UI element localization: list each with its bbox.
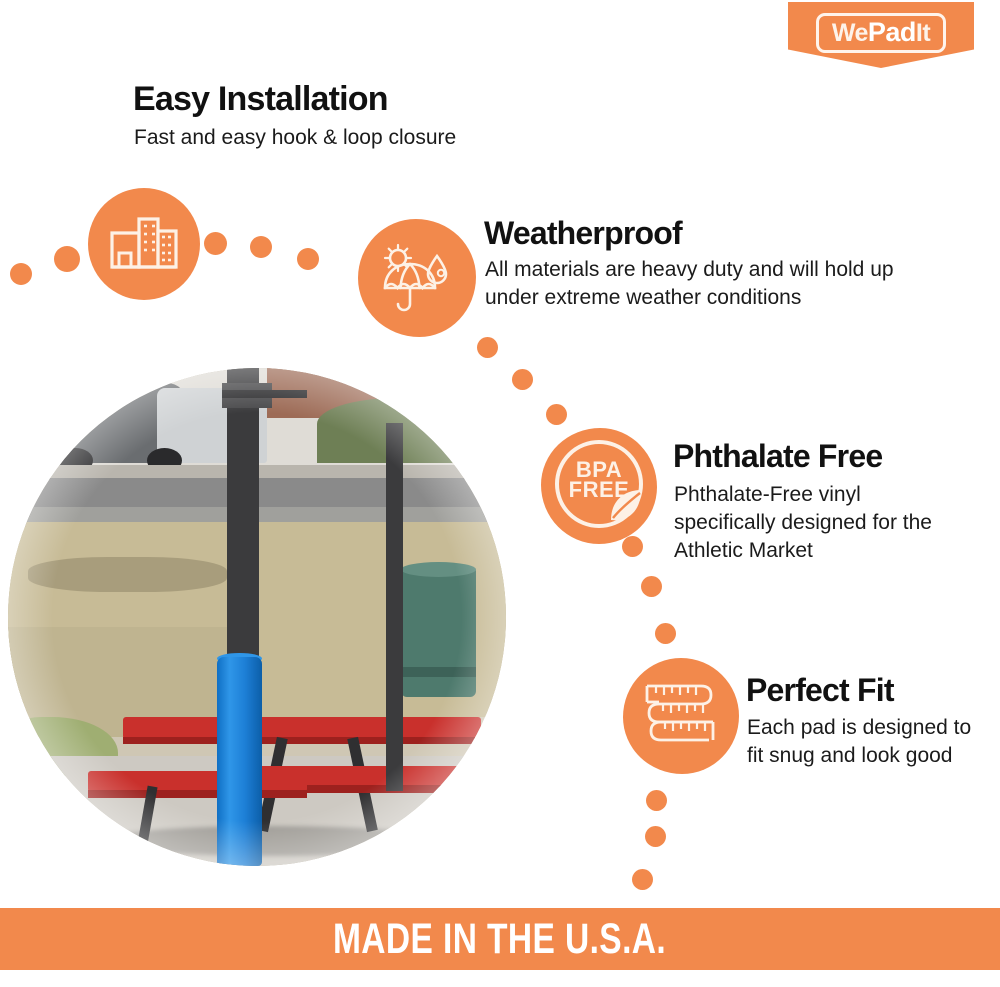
- logo-text-pad: Pad: [868, 19, 916, 46]
- trail-dot: [297, 248, 319, 270]
- product-photo: [8, 368, 506, 866]
- trail-dot: [645, 826, 666, 847]
- logo-text-we: We: [832, 21, 868, 46]
- trail-dot: [477, 337, 498, 358]
- trail-dot: [250, 236, 272, 258]
- feature-title-easy-installation: Easy Installation: [133, 80, 388, 119]
- feature-title-perfect-fit: Perfect Fit: [746, 672, 894, 709]
- trail-dot: [54, 246, 80, 272]
- trail-dot: [204, 232, 227, 255]
- trail-dot: [655, 623, 676, 644]
- trail-dot: [10, 263, 32, 285]
- trail-dot: [512, 369, 533, 390]
- infographic-page: We Pad It Easy Installation Fast and eas…: [0, 0, 1000, 987]
- umbrella-sun-raindrop-icon: [358, 219, 476, 337]
- trail-dot: [632, 869, 653, 890]
- bpa-badge-text: BPA FREE: [541, 460, 657, 500]
- feature-description-perfect-fit: Each pad is designed to fit snug and loo…: [747, 714, 972, 770]
- feature-description-weatherproof: All materials are heavy duty and will ho…: [485, 256, 905, 312]
- logo-text-it: It: [916, 21, 930, 46]
- feature-title-weatherproof: Weatherproof: [484, 215, 682, 252]
- feature-description-easy-installation: Fast and easy hook & loop closure: [134, 124, 456, 152]
- building-icon: [88, 188, 200, 300]
- made-in-usa-banner: MADE IN THE U.S.A.: [0, 908, 1000, 970]
- trail-dot: [641, 576, 662, 597]
- brand-logo-banner: We Pad It: [788, 2, 974, 68]
- made-in-usa-text: MADE IN THE U.S.A.: [333, 915, 666, 964]
- trail-dot: [646, 790, 667, 811]
- feature-title-phthalate-free: Phthalate Free: [673, 438, 882, 475]
- bpa-free-leaf-icon: BPA FREE: [541, 428, 657, 544]
- trail-dot: [546, 404, 567, 425]
- measuring-tape-icon: [623, 658, 739, 774]
- feature-description-phthalate-free: Phthalate-Free vinyl specifically design…: [674, 481, 936, 565]
- brand-logo-outline: We Pad It: [816, 13, 946, 53]
